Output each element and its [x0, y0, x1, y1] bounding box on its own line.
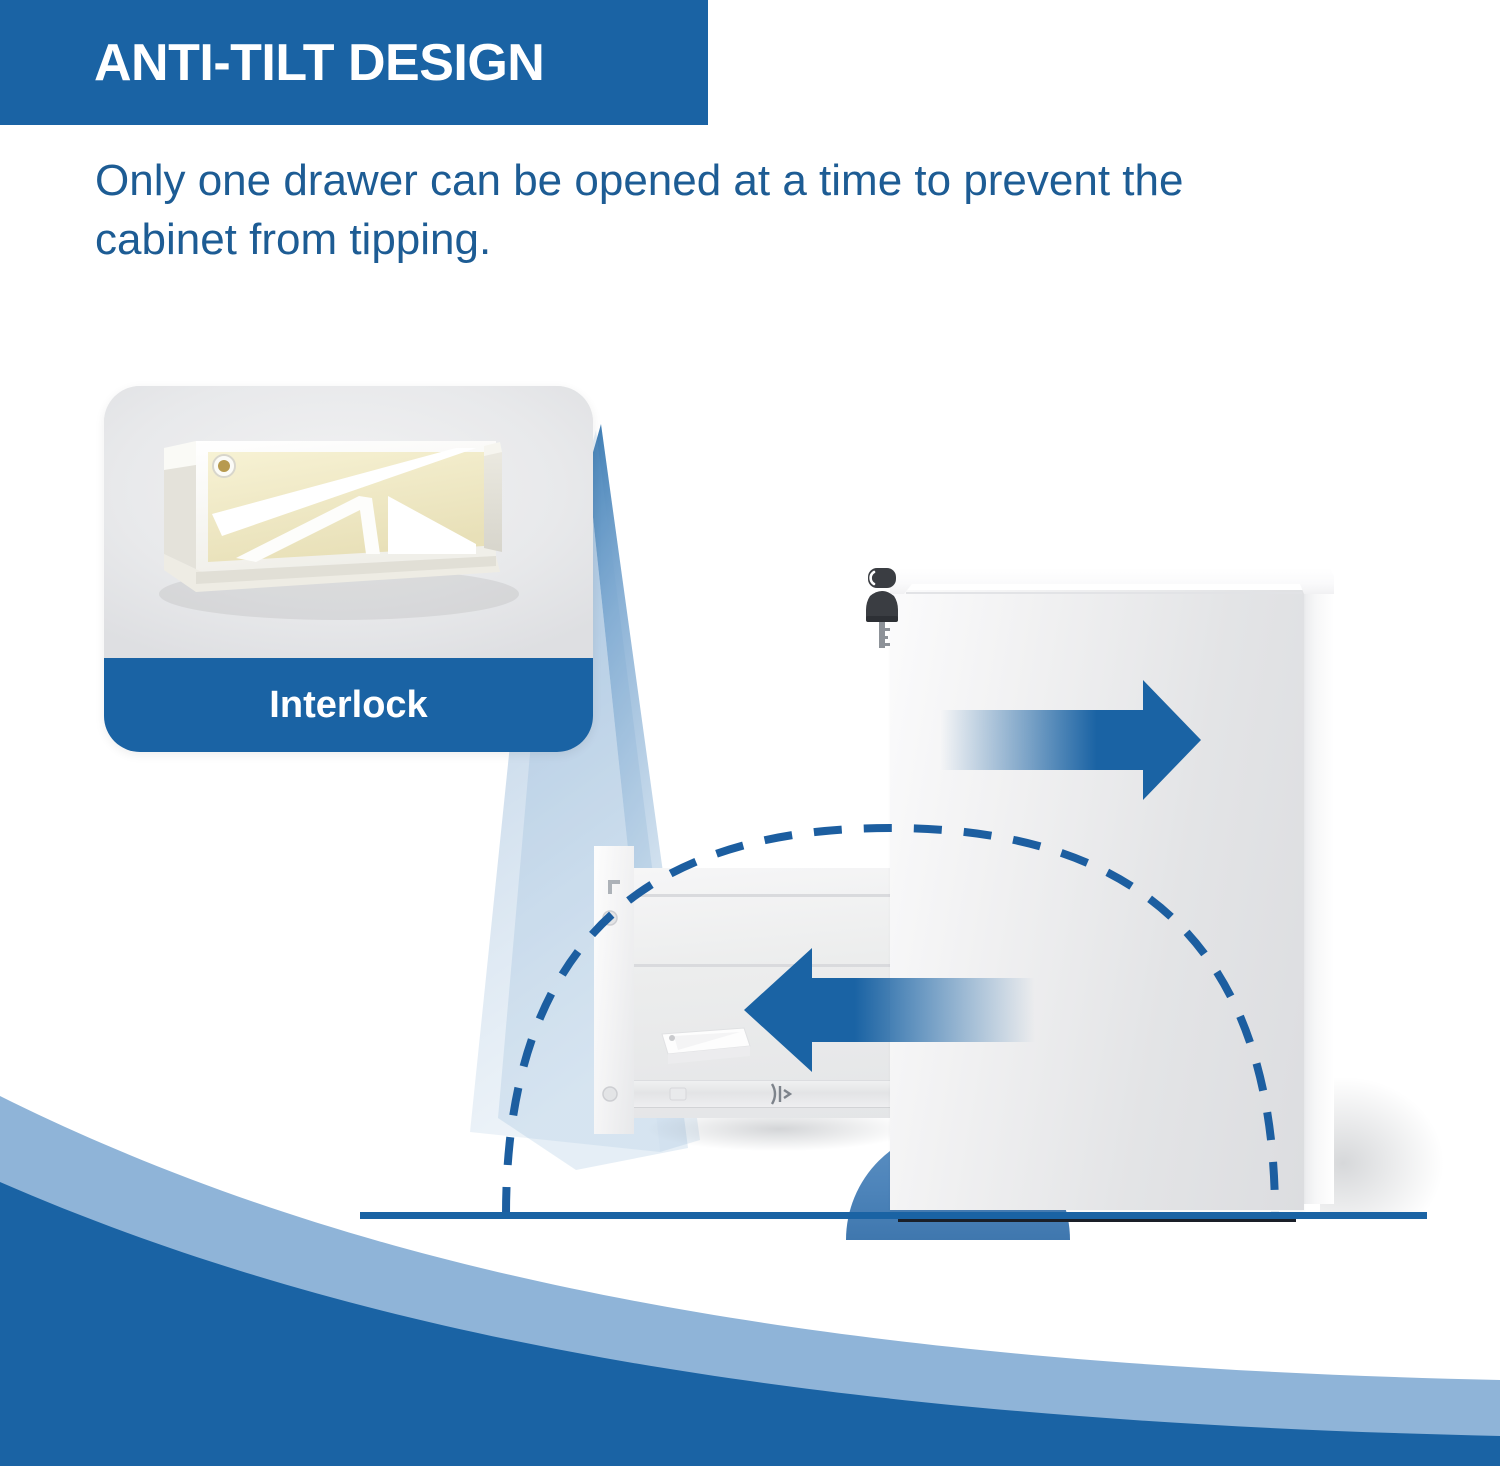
- lock-icon: [860, 562, 906, 662]
- file-cabinet: [890, 568, 1334, 1216]
- interlock-part-photo: [104, 386, 593, 658]
- page-title: ANTI-TILT DESIGN: [94, 33, 544, 93]
- cabinet-shadow: [1320, 968, 1500, 1212]
- cabinet-top-seam: [906, 592, 1302, 594]
- interlock-label-bar: Interlock: [104, 658, 593, 752]
- interlock-callout-card[interactable]: Interlock: [104, 386, 593, 752]
- cabinet-front-panel: [890, 590, 1304, 1210]
- open-drawer: [594, 846, 924, 1134]
- infographic-canvas: ANTI-TILT DESIGN Only one drawer can be …: [0, 0, 1500, 1466]
- header-banner: ANTI-TILT DESIGN: [0, 0, 708, 125]
- swoosh-dark-shape: [0, 1182, 1500, 1466]
- cabinet-right-side: [1304, 576, 1334, 1204]
- subtitle-text: Only one drawer can be opened at a time …: [95, 152, 1215, 269]
- floor-line: [360, 1212, 1427, 1219]
- lock-with-keys: [860, 562, 906, 662]
- drawer-interlock-part: [662, 1028, 750, 1064]
- drawer-details: [594, 846, 924, 1146]
- interlock-part-illustration: [104, 386, 593, 658]
- interlock-label-text: Interlock: [269, 684, 427, 727]
